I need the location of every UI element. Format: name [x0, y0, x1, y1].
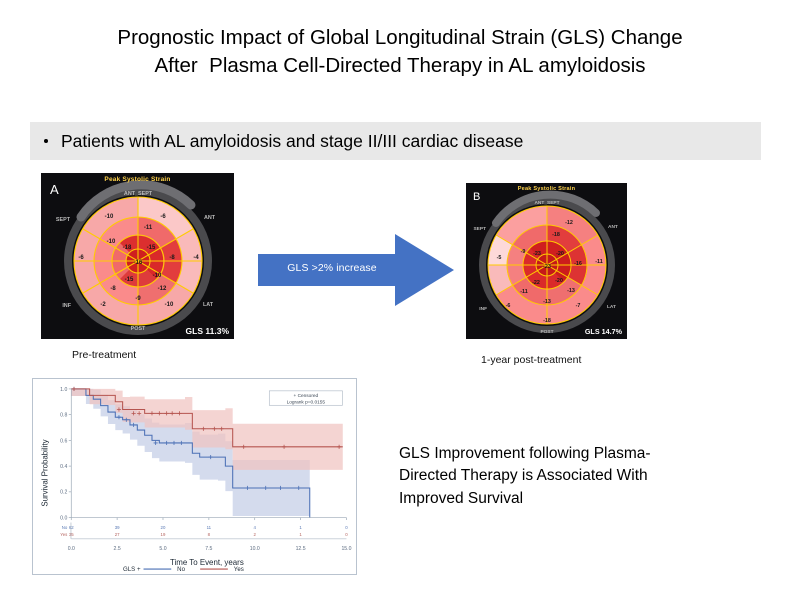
- svg-text:0.0: 0.0: [60, 515, 67, 521]
- svg-text:62: 62: [69, 525, 74, 530]
- svg-text:0.4: 0.4: [60, 464, 67, 470]
- bullseye-a-chart-title: Peak Systolic Strain: [41, 176, 234, 183]
- caption-pre-treatment: Pre-treatment: [72, 349, 136, 361]
- svg-text:-11: -11: [595, 259, 603, 265]
- svg-text:11: 11: [207, 525, 212, 530]
- svg-text:-20: -20: [555, 278, 563, 284]
- svg-text:ANT_SEPT: ANT_SEPT: [124, 191, 153, 197]
- bullseye-a-letter: A: [50, 182, 59, 197]
- svg-text:-6: -6: [78, 255, 84, 261]
- svg-text:0.2: 0.2: [60, 490, 67, 496]
- svg-text:0: 0: [345, 532, 348, 537]
- svg-text:POST: POST: [131, 326, 146, 332]
- flow-arrow: GLS >2% increase: [258, 232, 454, 308]
- svg-text:-18: -18: [552, 232, 560, 238]
- svg-text:1: 1: [299, 525, 302, 530]
- conclusion-line-3: Improved Survival: [399, 488, 729, 510]
- bullseye-b-gls-value: GLS 14.7%: [585, 327, 622, 336]
- svg-text:-7: -7: [576, 303, 581, 309]
- bullet-banner: Patients with AL amyloidosis and stage I…: [30, 122, 761, 160]
- svg-text:-15: -15: [125, 277, 134, 283]
- svg-text:-10: -10: [105, 214, 114, 220]
- svg-text:INF: INF: [62, 303, 71, 309]
- svg-text:-16: -16: [574, 261, 582, 267]
- svg-text:SEPT: SEPT: [56, 217, 71, 223]
- svg-text:-8: -8: [169, 255, 175, 261]
- km-annotation-box: + CensoredLogrank p=0.0155: [269, 391, 342, 405]
- svg-text:-2: -2: [100, 302, 106, 308]
- km-at-risk-table: No62392011410Yes3527198210: [60, 523, 348, 539]
- svg-text:SEPT: SEPT: [473, 226, 486, 232]
- svg-text:4: 4: [254, 525, 257, 530]
- svg-text:ANT: ANT: [608, 224, 618, 230]
- svg-text:-9: -9: [521, 249, 526, 255]
- svg-text:-13: -13: [543, 299, 551, 305]
- svg-text:-9: -9: [135, 296, 141, 302]
- svg-text:-22: -22: [532, 280, 540, 286]
- bullseye-a-gls-value: GLS 11.3%: [186, 326, 229, 336]
- svg-text:-23: -23: [543, 264, 551, 270]
- svg-text:-11: -11: [520, 289, 528, 295]
- svg-text:35: 35: [69, 532, 74, 537]
- svg-text:Logrank p=0.0155: Logrank p=0.0155: [287, 399, 326, 405]
- svg-text:0.0: 0.0: [68, 546, 75, 552]
- svg-text:7.5: 7.5: [205, 546, 212, 552]
- svg-text:+ Censored: + Censored: [294, 393, 319, 399]
- conclusion-line-2: Directed Therapy is Associated With: [399, 465, 729, 487]
- svg-text:12.5: 12.5: [296, 546, 306, 552]
- svg-text:0.6: 0.6: [60, 438, 67, 444]
- svg-text:5.0: 5.0: [159, 546, 166, 552]
- bullseye-a-diagram: -6 -4 -10 -2 -6 -10 -11 -8 -12 -9 -8 -10…: [41, 173, 234, 339]
- svg-text:-12: -12: [158, 286, 167, 292]
- svg-text:-10: -10: [165, 302, 174, 308]
- svg-text:LAT: LAT: [607, 304, 616, 310]
- svg-text:-8: -8: [110, 286, 116, 292]
- svg-text:-6: -6: [506, 303, 511, 309]
- svg-text:2: 2: [254, 532, 257, 537]
- page-title: Prognostic Impact of Global Longitudinal…: [30, 24, 770, 79]
- bullseye-b-chart-title: Peak Systolic Strain: [466, 186, 627, 192]
- caption-post-treatment: 1-year post-treatment: [481, 354, 581, 366]
- svg-text:GLS +: GLS +: [123, 566, 141, 573]
- svg-text:27: 27: [115, 532, 120, 537]
- slide-canvas: Prognostic Impact of Global Longitudinal…: [0, 0, 800, 600]
- bullseye-panel-a: -6 -4 -10 -2 -6 -10 -11 -8 -12 -9 -8 -10…: [41, 173, 234, 339]
- svg-text:20: 20: [161, 525, 166, 530]
- svg-text:-20: -20: [556, 251, 564, 257]
- svg-text:-10: -10: [153, 273, 162, 279]
- km-y-axis-label: Survival Probability: [41, 439, 50, 506]
- svg-text:1: 1: [299, 532, 302, 537]
- title-line-2: After Plasma Cell-Directed Therapy in AL…: [30, 52, 770, 80]
- svg-text:0.8: 0.8: [60, 413, 67, 419]
- bullseye-b-diagram: -12 -11 -7 -18 -6 -5 -18 -16 -13 -13 -11…: [466, 183, 627, 339]
- svg-text:ANT_SEPT: ANT_SEPT: [534, 200, 559, 206]
- bullseye-panel-b: -12 -11 -7 -18 -6 -5 -18 -16 -13 -13 -11…: [466, 183, 627, 339]
- svg-text:-15: -15: [147, 245, 156, 251]
- svg-text:1.0: 1.0: [60, 387, 67, 393]
- svg-text:ANT: ANT: [204, 215, 216, 221]
- svg-text:No: No: [62, 525, 68, 530]
- svg-text:10.0: 10.0: [250, 546, 260, 552]
- svg-text:-18: -18: [543, 318, 551, 324]
- svg-text:15.0: 15.0: [341, 546, 351, 552]
- svg-text:39: 39: [115, 525, 120, 530]
- conclusion-line-1: GLS Improvement following Plasma-: [399, 443, 729, 465]
- svg-text:POST: POST: [540, 329, 553, 335]
- svg-text:0: 0: [345, 525, 348, 530]
- svg-text:-12: -12: [565, 220, 573, 226]
- svg-text:-6: -6: [160, 214, 166, 220]
- km-x-axis-label: Time To Event, years: [170, 558, 244, 567]
- svg-text:2.5: 2.5: [114, 546, 121, 552]
- svg-text:-23: -23: [533, 251, 541, 257]
- svg-text:-13: -13: [567, 288, 575, 294]
- svg-text:Yes: Yes: [60, 532, 68, 537]
- svg-text:-16: -16: [134, 260, 143, 266]
- bullseye-b-letter: B: [473, 191, 480, 203]
- bullet-text: Patients with AL amyloidosis and stage I…: [61, 131, 523, 152]
- svg-text:INF: INF: [479, 306, 487, 312]
- km-confidence-bands: [71, 389, 343, 518]
- svg-text:-11: -11: [144, 225, 153, 231]
- svg-text:LAT: LAT: [203, 302, 214, 308]
- svg-text:-10: -10: [107, 239, 116, 245]
- kaplan-meier-chart: 0.00.20.40.60.81.00.02.55.07.510.012.515…: [32, 378, 357, 575]
- svg-text:-18: -18: [123, 245, 132, 251]
- bullet-point-icon: [44, 139, 48, 143]
- svg-text:8: 8: [208, 532, 211, 537]
- km-plot-svg: 0.00.20.40.60.81.00.02.55.07.510.012.515…: [33, 379, 356, 574]
- title-line-1: Prognostic Impact of Global Longitudinal…: [30, 24, 770, 52]
- svg-text:-5: -5: [497, 255, 502, 261]
- flow-arrow-label: GLS >2% increase: [272, 262, 392, 274]
- svg-text:-4: -4: [193, 255, 199, 261]
- conclusion-text: GLS Improvement following Plasma- Direct…: [399, 443, 729, 510]
- svg-text:19: 19: [161, 532, 166, 537]
